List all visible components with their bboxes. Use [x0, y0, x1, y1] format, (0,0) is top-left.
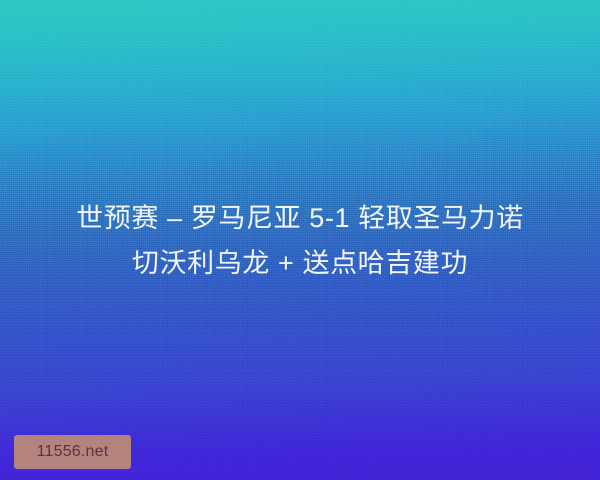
- article-banner: 世预赛 – 罗马尼亚 5-1 轻取圣马力诺 切沃利乌龙 + 送点哈吉建功 115…: [0, 0, 600, 480]
- headline-line-1: 世预赛 – 罗马尼亚 5-1 轻取圣马力诺: [0, 196, 600, 241]
- site-watermark-badge[interactable]: 11556.net: [14, 435, 131, 469]
- site-watermark-label: 11556.net: [37, 444, 109, 460]
- banner-headline: 世预赛 – 罗马尼亚 5-1 轻取圣马力诺 切沃利乌龙 + 送点哈吉建功: [0, 196, 600, 286]
- headline-line-2: 切沃利乌龙 + 送点哈吉建功: [0, 241, 600, 286]
